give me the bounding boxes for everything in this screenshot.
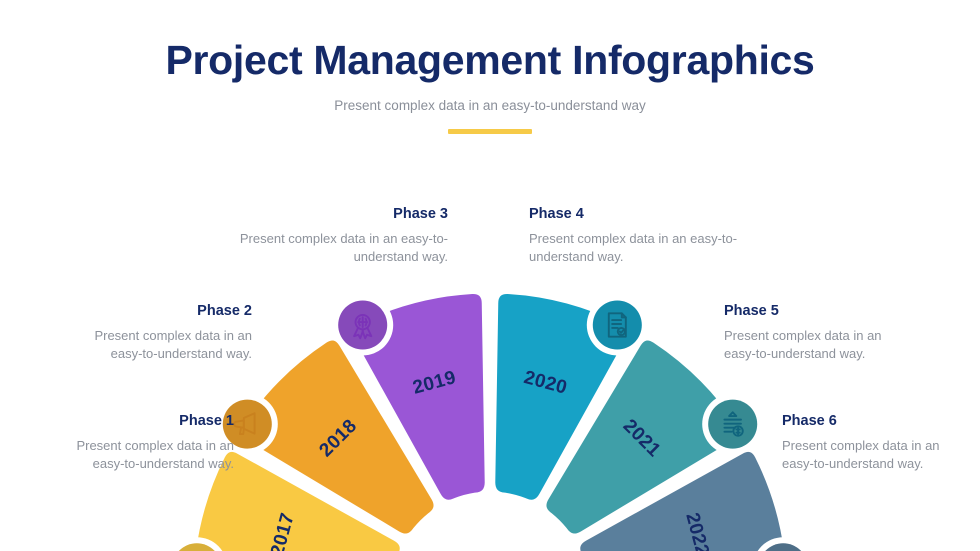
phase-6-description: Present complex data in an easy-to-under… bbox=[782, 437, 968, 472]
icon-badge-2020[interactable] bbox=[593, 301, 642, 350]
icon-badge-shade-2022 bbox=[759, 543, 808, 551]
award-badge-icon bbox=[354, 315, 371, 338]
phase-4-title: Phase 4 bbox=[529, 205, 771, 223]
year-label-2018: 2018 bbox=[315, 415, 361, 461]
phase-block-2: Phase 2 Present complex data in an easy-… bbox=[66, 302, 252, 362]
finance-list-icon bbox=[724, 412, 742, 436]
icon-badge-2021[interactable] bbox=[708, 400, 757, 449]
icon-badge-shade-2017 bbox=[172, 543, 221, 551]
phase-3-description: Present complex data in an easy-to-under… bbox=[206, 230, 448, 265]
year-label-2017: 2017 bbox=[267, 511, 299, 551]
slide-header: Project Management Infographics Present … bbox=[0, 38, 980, 134]
phase-block-4: Phase 4 Present complex data in an easy-… bbox=[529, 205, 771, 265]
fan-segment-2020[interactable] bbox=[492, 291, 632, 504]
phase-block-6: Phase 6 Present complex data in an easy-… bbox=[782, 412, 968, 472]
page-subtitle: Present complex data in an easy-to-under… bbox=[0, 97, 980, 115]
phase-2-title: Phase 2 bbox=[66, 302, 252, 320]
phase-6-title: Phase 6 bbox=[782, 412, 968, 430]
phase-4-description: Present complex data in an easy-to-under… bbox=[529, 230, 771, 265]
phase-1-description: Present complex data in an easy-to-under… bbox=[48, 437, 234, 472]
page-title: Project Management Infographics bbox=[0, 38, 980, 84]
phase-5-description: Present complex data in an easy-to-under… bbox=[724, 327, 910, 362]
fan-segment-2019[interactable] bbox=[348, 291, 488, 504]
phase-3-title: Phase 3 bbox=[206, 205, 448, 223]
icon-badge-2019[interactable] bbox=[338, 301, 387, 350]
infographic-slide: Project Management Infographics Present … bbox=[0, 0, 980, 551]
badge-ring-2019 bbox=[332, 295, 393, 356]
icon-badge-2017[interactable] bbox=[172, 543, 221, 551]
phase-block-5: Phase 5 Present complex data in an easy-… bbox=[724, 302, 910, 362]
fan-segment-2018[interactable] bbox=[237, 337, 437, 537]
megaphone-icon bbox=[234, 413, 254, 434]
badge-ring-2020 bbox=[587, 295, 648, 356]
year-label-2019: 2019 bbox=[411, 367, 459, 399]
year-label-2020: 2020 bbox=[522, 367, 570, 399]
phase-2-description: Present complex data in an easy-to-under… bbox=[66, 327, 252, 362]
badge-ring-2021 bbox=[702, 394, 763, 455]
fan-segment-2022[interactable] bbox=[577, 448, 790, 551]
checklist-document-icon bbox=[609, 313, 626, 336]
accent-divider bbox=[448, 129, 532, 134]
phase-block-3: Phase 3 Present complex data in an easy-… bbox=[206, 205, 448, 265]
phase-5-title: Phase 5 bbox=[724, 302, 910, 320]
badge-ring-2022 bbox=[753, 537, 814, 551]
year-label-2021: 2021 bbox=[619, 415, 665, 461]
icon-badge-shade-2019 bbox=[338, 301, 387, 350]
phase-block-1: Phase 1 Present complex data in an easy-… bbox=[48, 412, 234, 472]
icon-badge-2022[interactable] bbox=[759, 543, 808, 551]
icon-badge-shade-2021 bbox=[708, 400, 757, 449]
icon-badge-shade-2020 bbox=[593, 301, 642, 350]
fan-segment-2021[interactable] bbox=[543, 337, 743, 537]
phase-1-title: Phase 1 bbox=[48, 412, 234, 430]
badge-ring-2017 bbox=[166, 537, 227, 551]
year-label-2022: 2022 bbox=[681, 511, 713, 551]
